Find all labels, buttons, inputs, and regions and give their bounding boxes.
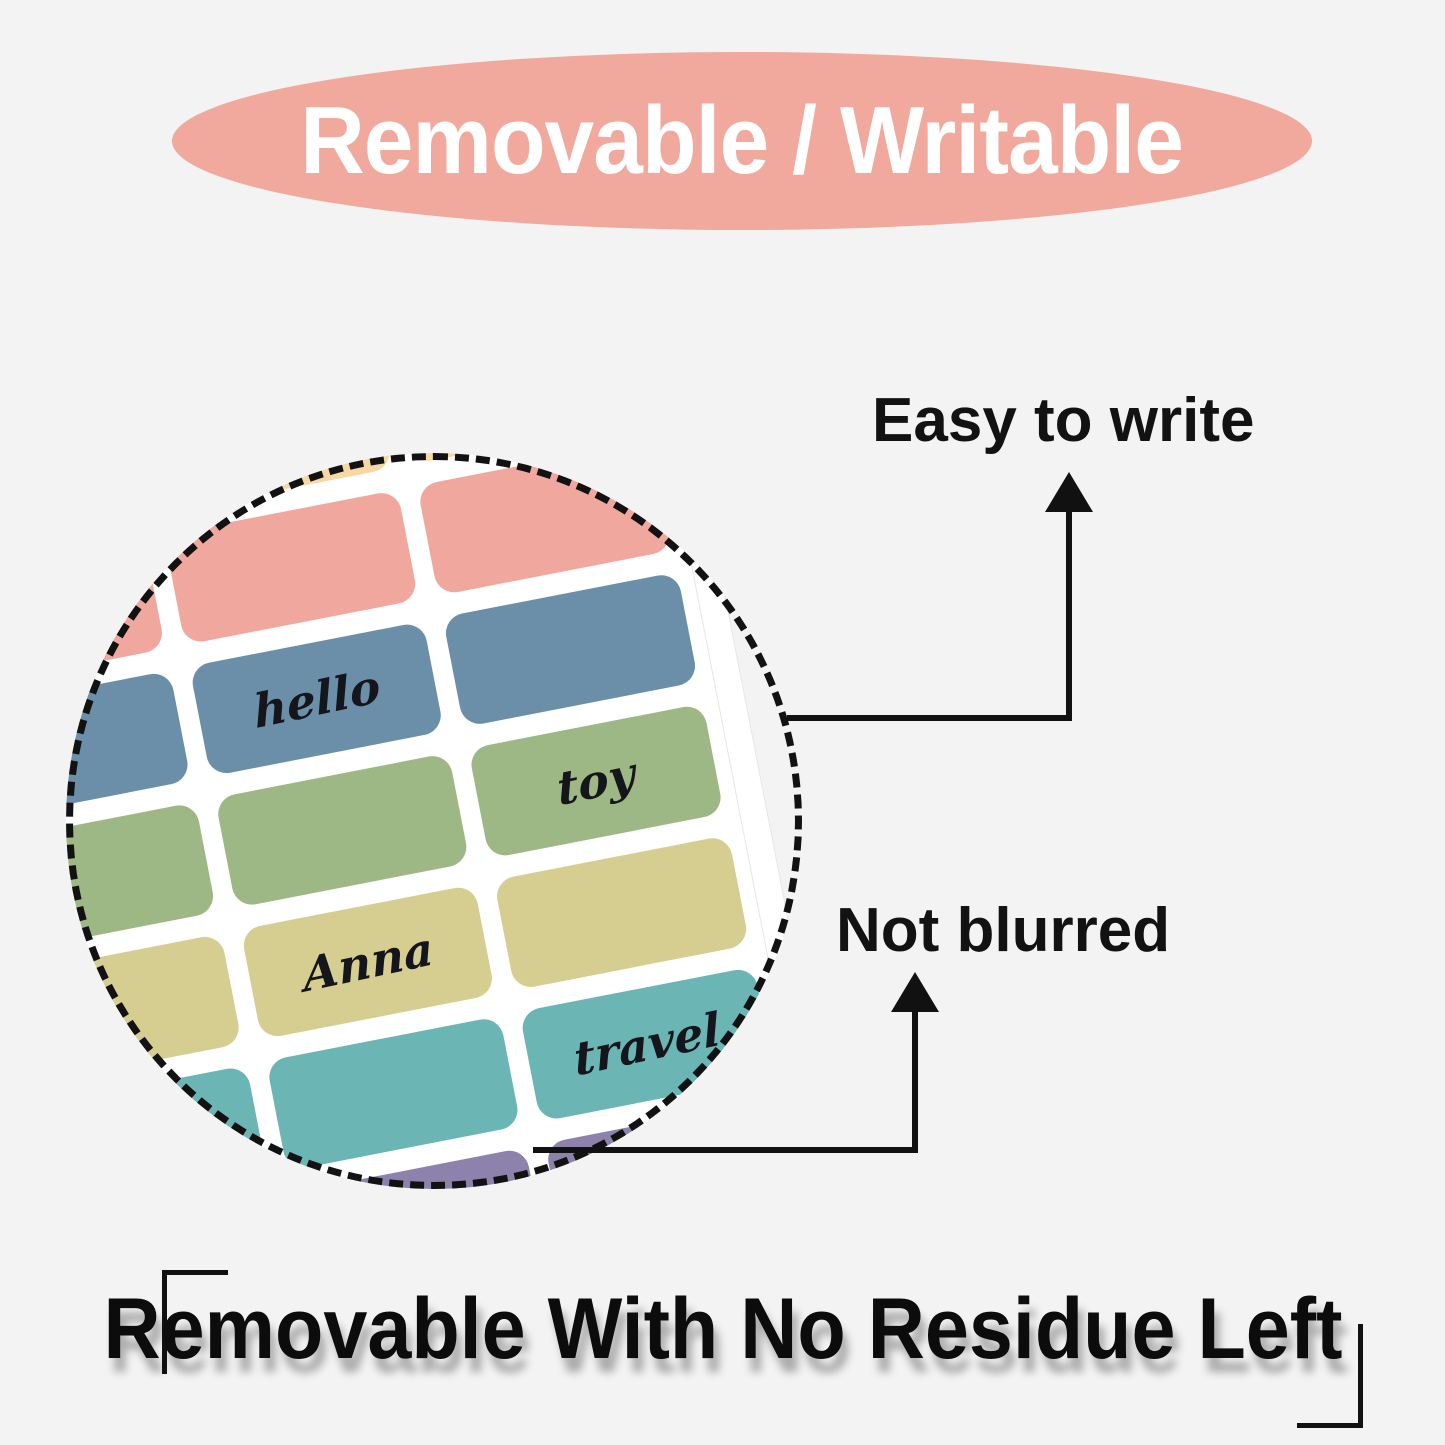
sticker-label: [66, 1065, 267, 1189]
sticker-label: [66, 539, 165, 694]
sticker-handwritten-text: Anna: [300, 921, 435, 1002]
callout-label-easy-to-write: Easy to write: [872, 390, 1254, 452]
connector-arrow-easy-to-write: [780, 460, 1110, 740]
sticker-label: [417, 453, 673, 596]
sticker-label: [66, 802, 216, 957]
sticker-label: [214, 753, 470, 908]
header-banner: Removable / Writable: [172, 52, 1312, 230]
footer-headline: Removable With No Residue Left: [103, 1286, 1342, 1372]
bracket-bottom-right-icon: [1297, 1324, 1363, 1428]
sticker-label: toy: [468, 703, 724, 858]
sticker-label: [163, 490, 419, 645]
sticker-label: [266, 1016, 522, 1171]
sticker-label: [66, 934, 242, 1089]
sticker-label: Anna: [240, 884, 496, 1039]
callout-label-not-blurred: Not blurred: [836, 900, 1170, 962]
sticker-handwritten-text: toy: [555, 746, 638, 816]
sticker-label: [443, 572, 699, 727]
sticker-label: [66, 670, 191, 825]
sticker-label: hello: [189, 621, 445, 776]
footer-section: Removable With No Residue Left: [0, 1262, 1445, 1442]
connector-arrow-not-blurred: [528, 960, 958, 1170]
infographic-canvas: Removable / Writable hellotoyAnnatravel …: [0, 0, 1445, 1445]
header-banner-title: Removable / Writable: [301, 93, 1184, 189]
sticker-handwritten-text: hello: [251, 659, 382, 740]
